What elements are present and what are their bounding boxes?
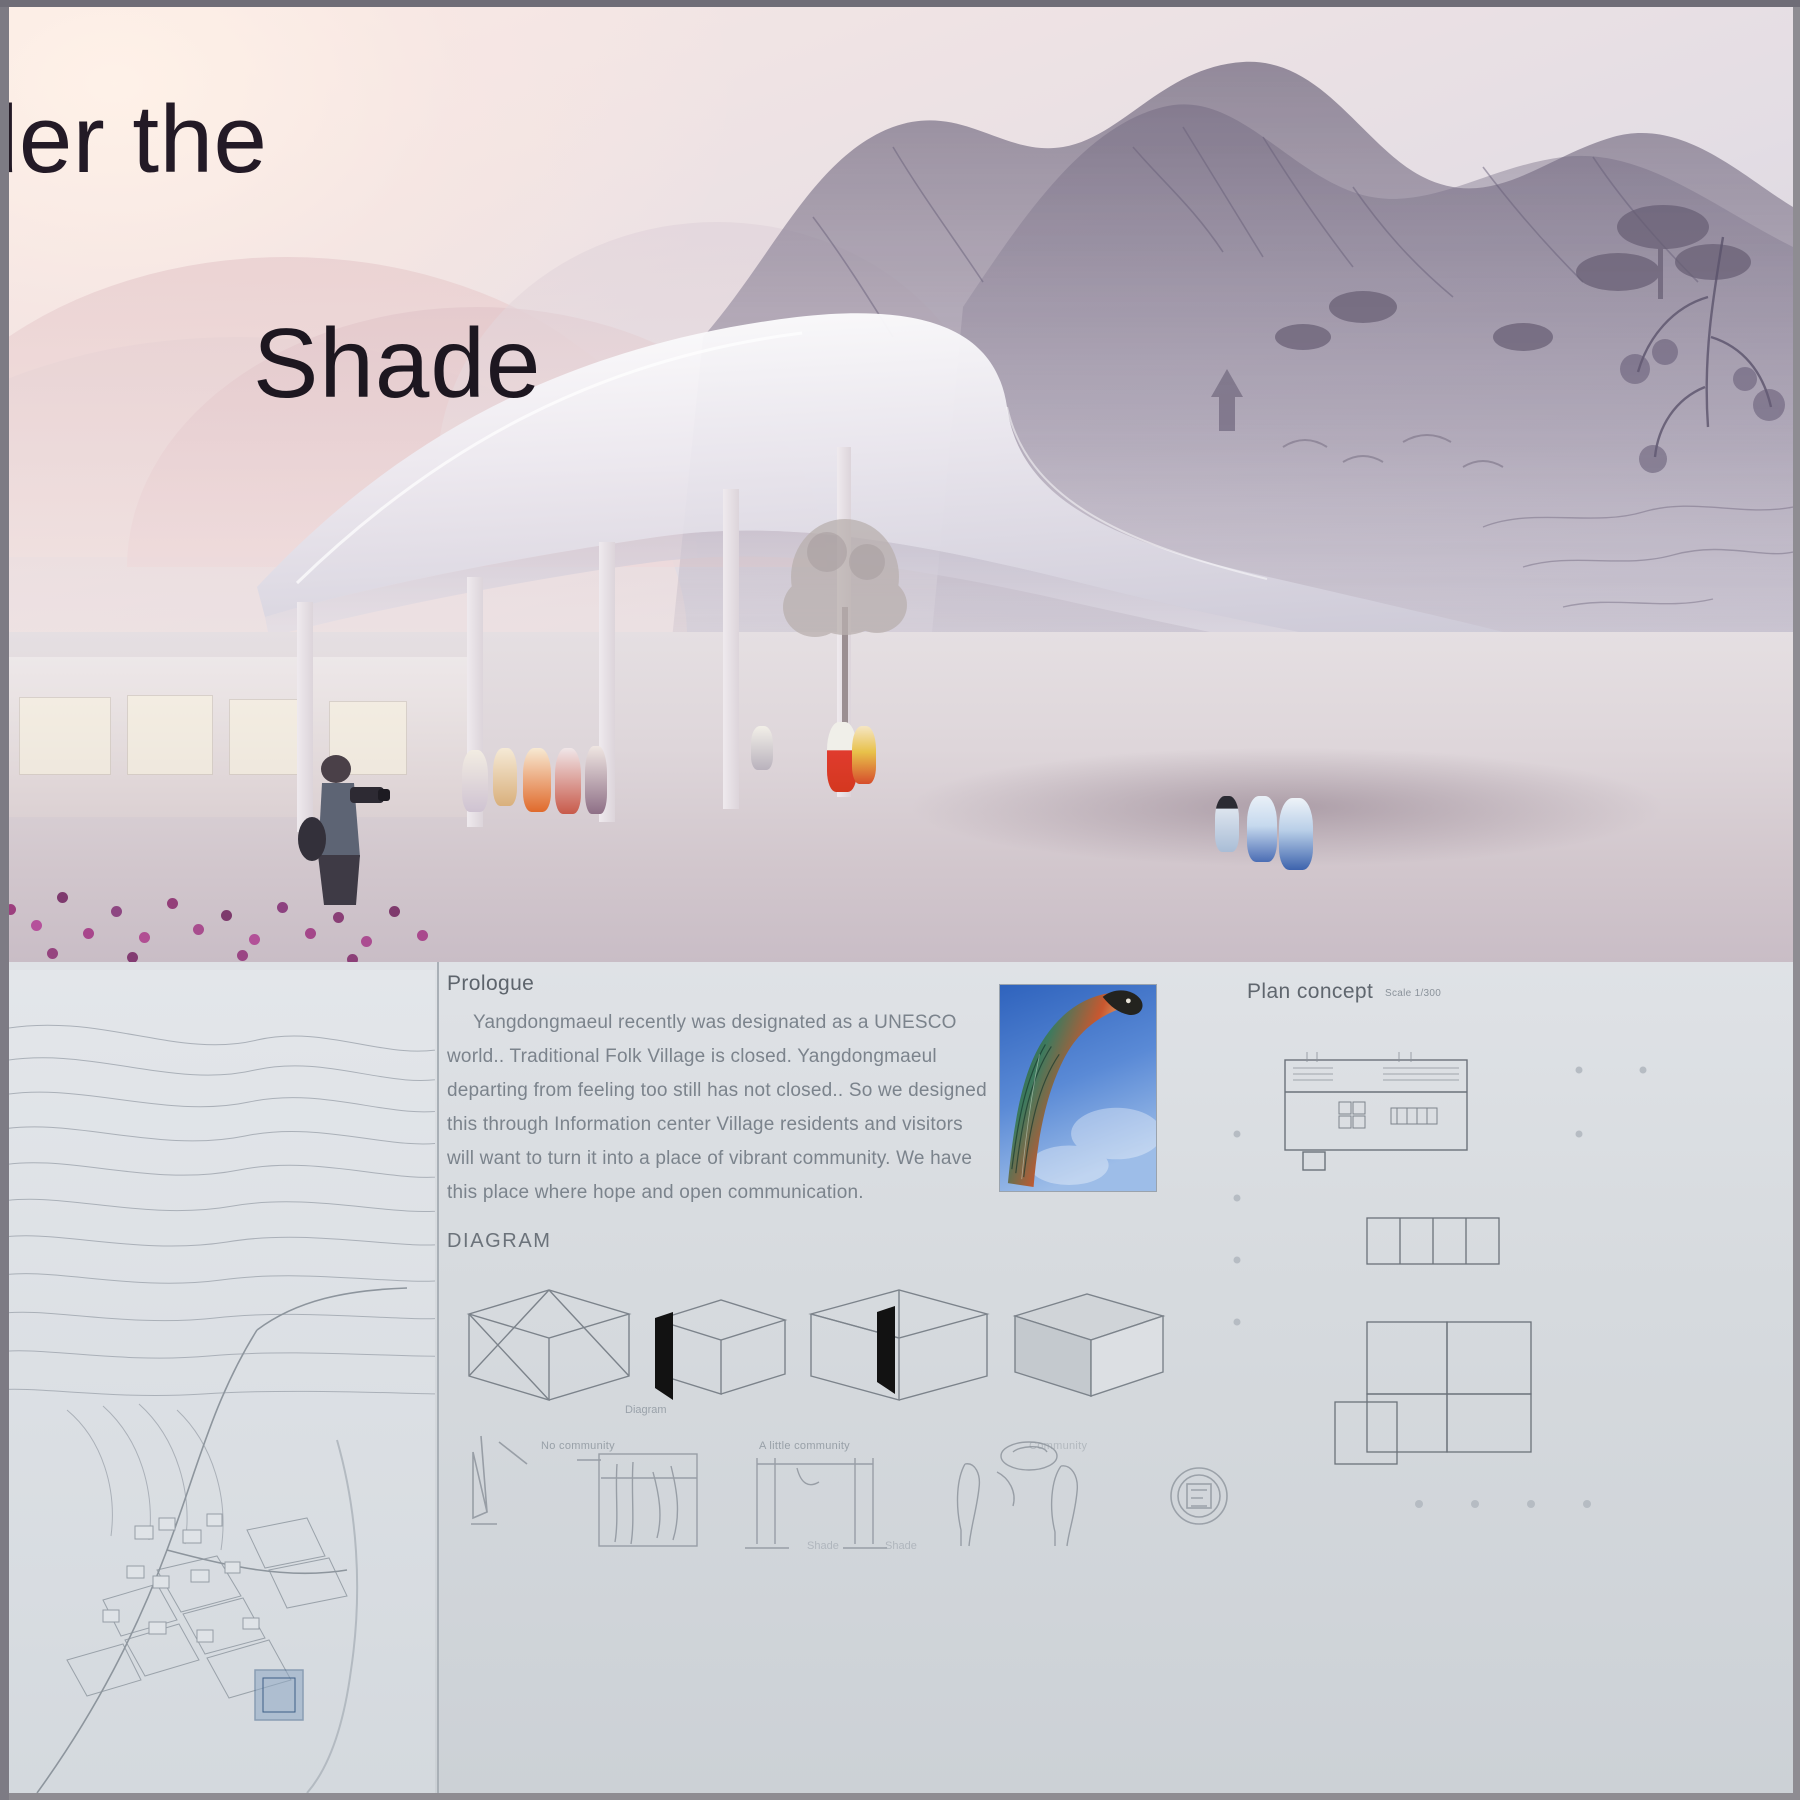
photo-border-left bbox=[0, 0, 9, 1800]
photo-border-top bbox=[0, 0, 1800, 7]
presentation-board: der the Shade bbox=[0, 0, 1800, 1800]
photo-border bbox=[0, 0, 1800, 1800]
